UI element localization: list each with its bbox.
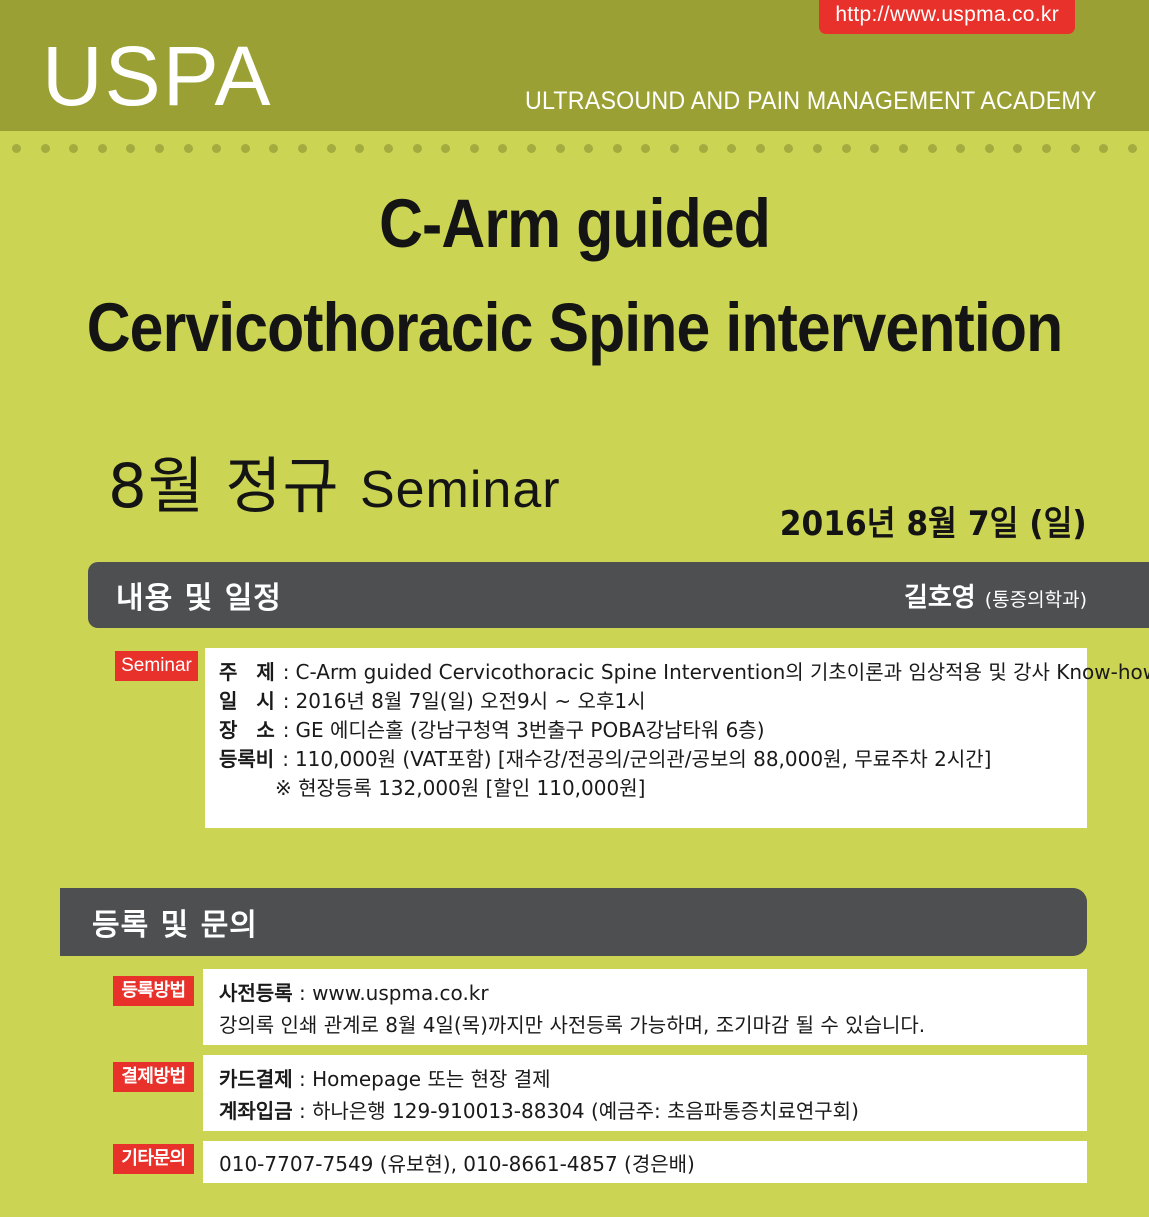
row-separator: : bbox=[283, 687, 290, 716]
row-value: 110,000원 (VAT포함) [재수강/전공의/군의관/공보의 88,000… bbox=[295, 745, 1071, 774]
line-label: 카드결제 bbox=[219, 1067, 293, 1091]
line-value[interactable]: www.uspma.co.kr bbox=[312, 981, 489, 1005]
row-value: 2016년 8월 7일(일) 오전9시 ~ 오후1시 bbox=[296, 687, 1071, 716]
schedule-row-fee-note: ※ 현장등록 132,000원 [할인 110,000원] bbox=[219, 774, 1071, 803]
payment-method-box: 카드결제 : Homepage 또는 현장 결제 계좌입금 : 하나은행 129… bbox=[203, 1055, 1087, 1131]
row-label: 등록비 bbox=[219, 745, 274, 774]
row-label: 주 제 bbox=[219, 658, 281, 687]
line-value: 강의록 인쇄 관계로 8월 4일(목)까지만 사전등록 가능하며, 조기마감 될… bbox=[219, 1013, 925, 1037]
line-value: 하나은행 129-910013-88304 (예금주: 초음파통증치료연구회) bbox=[312, 1099, 859, 1123]
registration-method-badge: 등록방법 bbox=[113, 976, 194, 1006]
row-label: 장 소 bbox=[219, 716, 281, 745]
row-separator: : bbox=[282, 745, 289, 774]
row-label: 일 시 bbox=[219, 687, 281, 716]
line-label: 사전등록 bbox=[219, 981, 293, 1005]
row-separator: : bbox=[283, 716, 290, 745]
registration-method-box: 사전등록 : www.uspma.co.kr 강의록 인쇄 관계로 8월 4일(… bbox=[203, 969, 1087, 1045]
line-separator: : bbox=[299, 981, 306, 1005]
registration-line-preregister: 사전등록 : www.uspma.co.kr bbox=[219, 977, 1071, 1009]
academy-subtitle: ULTRASOUND AND PAIN MANAGEMENT ACADEMY bbox=[525, 88, 1097, 114]
seminar-tag-badge: Seminar bbox=[115, 651, 198, 681]
registration-line-deadline: 강의록 인쇄 관계로 8월 4일(목)까지만 사전등록 가능하며, 조기마감 될… bbox=[219, 1009, 1071, 1041]
seminar-date: 2016년 8월 7일 (일) bbox=[780, 505, 1087, 543]
other-inquiry-badge: 기타문의 bbox=[113, 1144, 194, 1174]
speaker-name: 길호영 bbox=[904, 583, 976, 613]
website-url-badge[interactable]: http://www.uspma.co.kr bbox=[819, 0, 1075, 34]
schedule-row-fee: 등록비 : 110,000원 (VAT포함) [재수강/전공의/군의관/공보의 … bbox=[219, 745, 1071, 774]
other-inquiry-box: 010-7707-7549 (유보현), 010-8661-4857 (경은배) bbox=[203, 1141, 1087, 1183]
row-separator: : bbox=[283, 658, 290, 687]
seminar-label: 8월 정규 Seminar bbox=[108, 454, 561, 523]
dotted-divider bbox=[0, 144, 1149, 158]
schedule-row-venue: 장 소 : GE 에디슨홀 (강남구청역 3번출구 POBA강남타워 6층) bbox=[219, 716, 1071, 745]
schedule-section-title: 내용 및 일정 bbox=[116, 573, 282, 617]
uspa-logo: USPA bbox=[42, 34, 273, 118]
line-separator: : bbox=[299, 1099, 306, 1123]
line-value: Homepage 또는 현장 결제 bbox=[312, 1067, 551, 1091]
inquiry-line-phones: 010-7707-7549 (유보현), 010-8661-4857 (경은배) bbox=[219, 1148, 1071, 1180]
schedule-row-subject: 주 제 : C-Arm guided Cervicothoracic Spine… bbox=[219, 658, 1071, 687]
schedule-row-datetime: 일 시 : 2016년 8월 7일(일) 오전9시 ~ 오후1시 bbox=[219, 687, 1071, 716]
row-value: C-Arm guided Cervicothoracic Spine Inter… bbox=[296, 658, 1149, 687]
seminar-month-label: 8월 정규 bbox=[108, 451, 340, 522]
payment-line-bank: 계좌입금 : 하나은행 129-910013-88304 (예금주: 초음파통증… bbox=[219, 1095, 1071, 1127]
registration-section-title: 등록 및 문의 bbox=[92, 900, 258, 944]
page-title-line1: C-Arm guided bbox=[69, 186, 1080, 262]
line-separator: : bbox=[299, 1067, 306, 1091]
payment-method-badge: 결제방법 bbox=[113, 1062, 194, 1092]
speaker-info: 길호영 (통증의학과) bbox=[904, 577, 1087, 614]
line-label: 계좌입금 bbox=[219, 1099, 293, 1123]
row-value: ※ 현장등록 132,000원 [할인 110,000원] bbox=[275, 774, 1071, 803]
registration-section-header: 등록 및 문의 bbox=[60, 888, 1087, 956]
row-value: GE 에디슨홀 (강남구청역 3번출구 POBA강남타워 6층) bbox=[296, 716, 1071, 745]
schedule-details-box: 주 제 : C-Arm guided Cervicothoracic Spine… bbox=[205, 648, 1087, 828]
seminar-word-label: Seminar bbox=[360, 461, 561, 519]
line-value: 010-7707-7549 (유보현), 010-8661-4857 (경은배) bbox=[219, 1152, 695, 1176]
page-title-line2: Cervicothoracic Spine intervention bbox=[69, 290, 1080, 366]
schedule-section-header: 내용 및 일정 길호영 (통증의학과) bbox=[88, 562, 1149, 628]
speaker-department: (통증의학과) bbox=[985, 589, 1087, 611]
payment-line-card: 카드결제 : Homepage 또는 현장 결제 bbox=[219, 1063, 1071, 1095]
